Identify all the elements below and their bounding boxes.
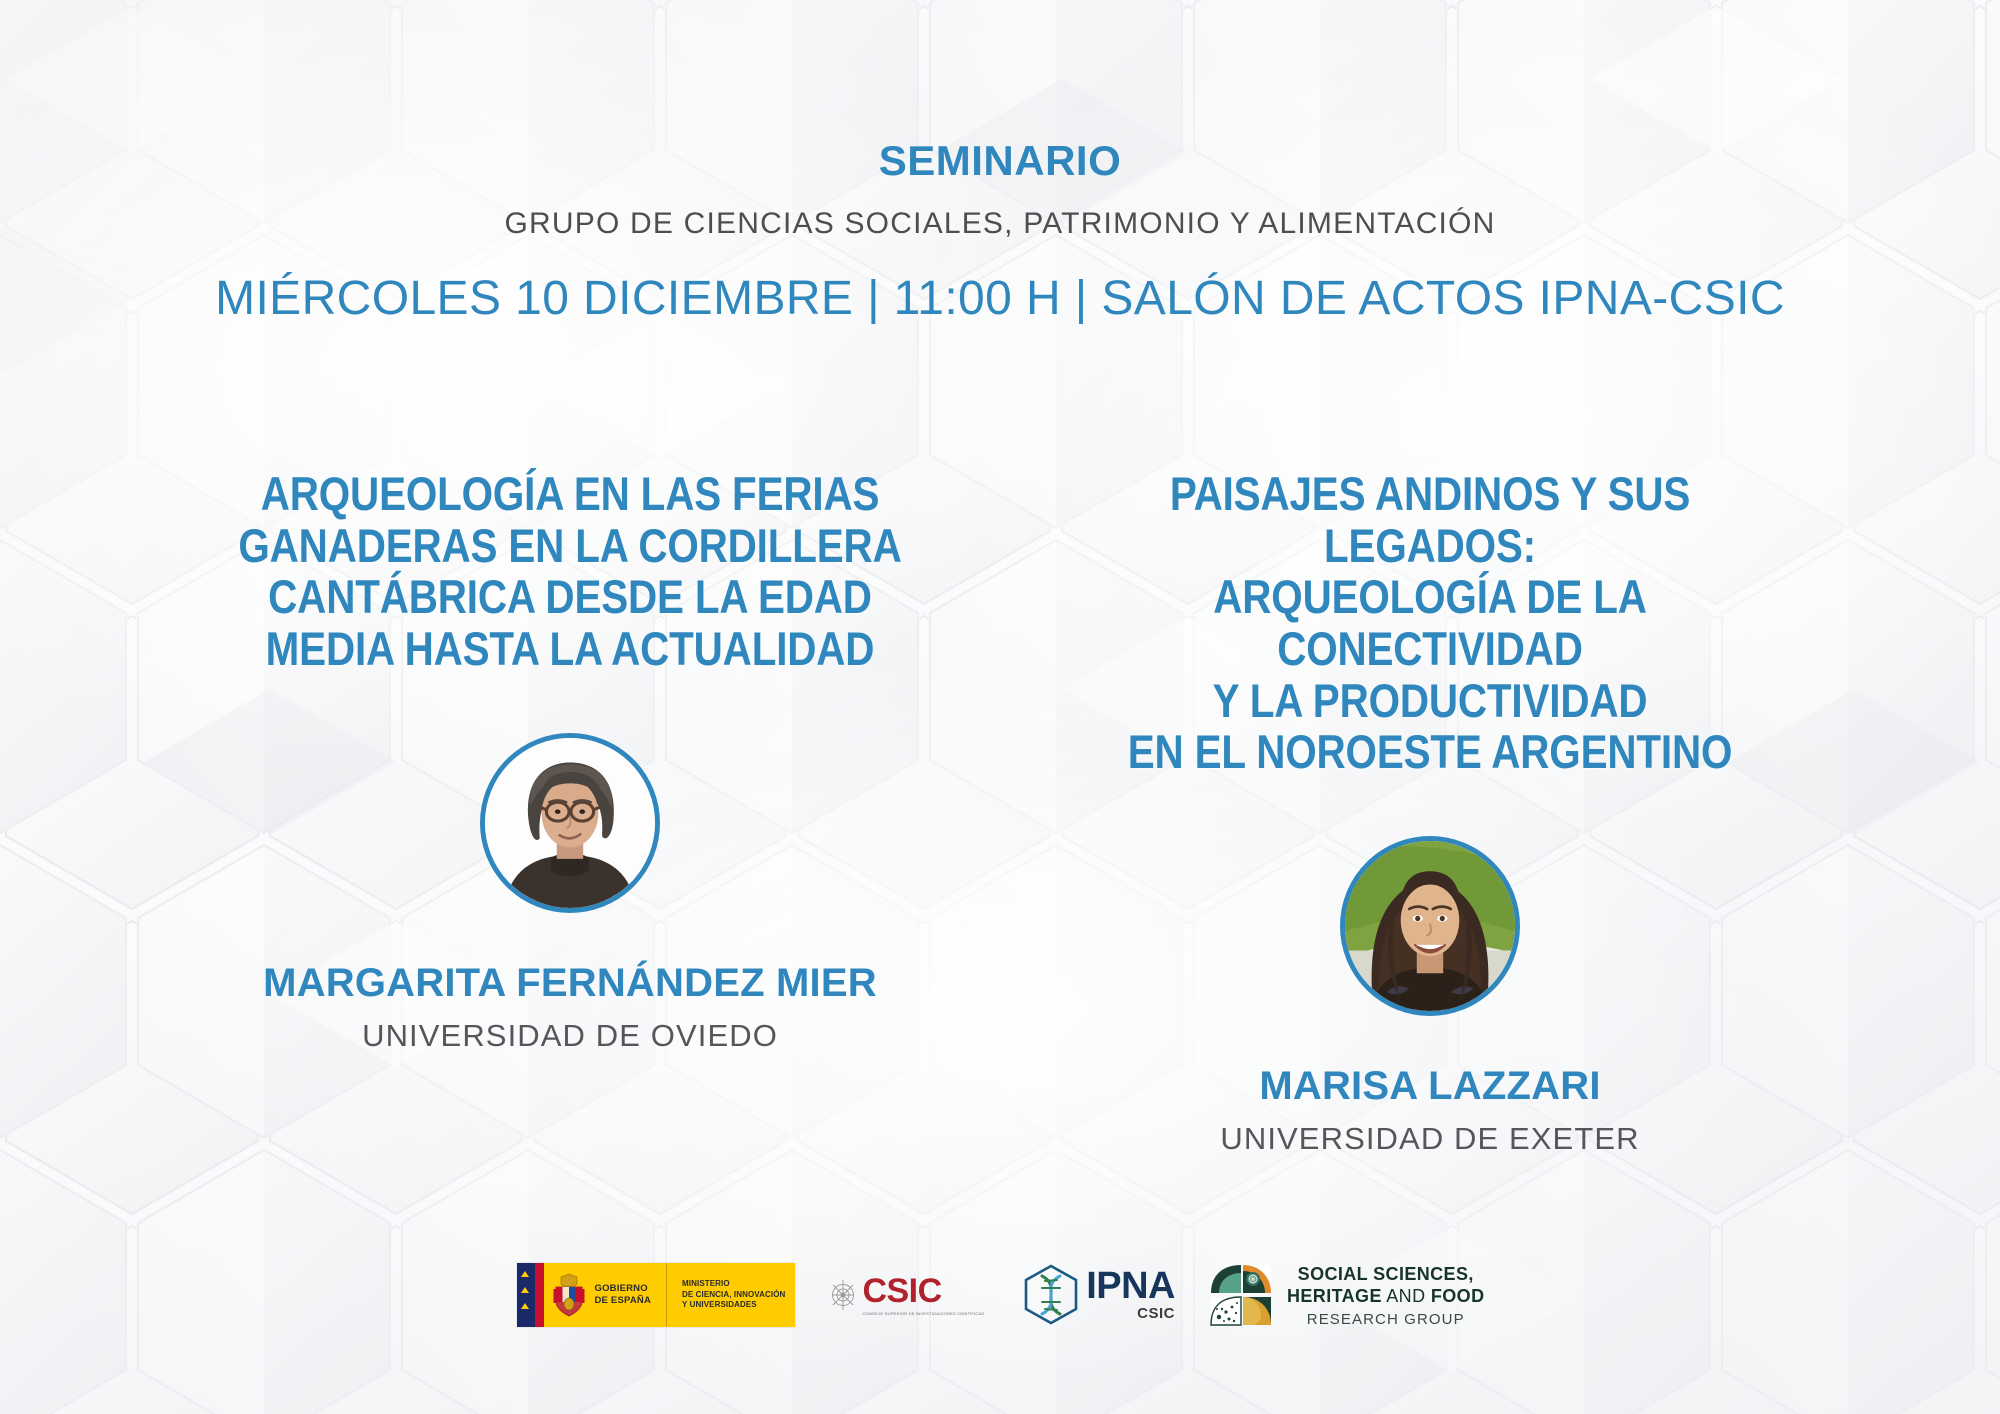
ipna-logo: IPNA CSIC — [1018, 1262, 1175, 1328]
seminar-poster: SEMINARIO GRUPO DE CIENCIAS SOCIALES, PA… — [0, 0, 2000, 1414]
csic-emblem-icon — [830, 1278, 856, 1312]
portrait-wrap — [1040, 836, 1820, 1016]
csic-wordmark: CSIC — [862, 1274, 984, 1308]
csic-logo: CSIC CONSEJO SUPERIOR DE INVESTIGACIONES… — [830, 1274, 984, 1316]
ipna-hexagon-dna-icon — [1018, 1262, 1084, 1328]
page-title: SEMINARIO — [0, 137, 2000, 185]
poster-header: SEMINARIO GRUPO DE CIENCIAS SOCIALES, PA… — [0, 0, 2000, 326]
avatar — [1340, 836, 1520, 1016]
divider — [666, 1263, 667, 1327]
ipna-csic-sublabel: CSIC — [1137, 1305, 1175, 1322]
research-group-line-2: HERITAGE AND FOOD — [1287, 1285, 1485, 1308]
ministerio-label: MINISTERIO DE CIENCIA, INNOVACIÓN Y UNIV… — [682, 1279, 785, 1310]
research-group-heritage-label: HERITAGE — [1287, 1286, 1382, 1306]
talk-column-right: PAISAJES ANDINOS Y SUS LEGADOS: ARQUEOLO… — [1000, 468, 1880, 1157]
portrait-wrap — [180, 733, 960, 913]
research-group-and-label: AND — [1382, 1286, 1431, 1306]
gobierno-de-espana-logo: GOBIERNO DE ESPAÑA MINISTERIO DE CIENCIA… — [516, 1262, 797, 1328]
research-group-line: GRUPO DE CIENCIAS SOCIALES, PATRIMONIO Y… — [0, 207, 2000, 241]
speaker-affiliation: UNIVERSIDAD DE OVIEDO — [180, 1018, 960, 1054]
talk-title: PAISAJES ANDINOS Y SUS LEGADOS: ARQUEOLO… — [1095, 468, 1766, 778]
research-group-line-3: RESEARCH GROUP — [1307, 1311, 1465, 1328]
speaker-affiliation: UNIVERSIDAD DE EXETER — [1040, 1121, 1820, 1157]
spain-coat-of-arms-icon — [552, 1273, 586, 1317]
event-datetime-venue: MIÉRCOLES 10 DICIEMBRE | 11:00 H | SALÓN… — [0, 271, 2000, 326]
research-group-line-1: SOCIAL SCIENCES, — [1298, 1263, 1474, 1286]
talk-column-left: ARQUEOLOGÍA EN LAS FERIAS GANADERAS EN L… — [120, 468, 1000, 1054]
research-group-logo: SOCIAL SCIENCES, HERITAGE AND FOOD RESEA… — [1209, 1263, 1485, 1328]
ipna-wordmark: IPNA — [1086, 1268, 1175, 1304]
avatar — [480, 733, 660, 913]
talks-container: ARQUEOLOGÍA EN LAS FERIAS GANADERAS EN L… — [0, 468, 2000, 1157]
research-group-emblem-icon — [1209, 1263, 1273, 1327]
speaker-name: MARISA LAZZARI — [1040, 1064, 1820, 1109]
research-group-food-label: FOOD — [1431, 1286, 1485, 1306]
eu-flag-bar-icon — [517, 1263, 535, 1327]
spain-flag-red-bar-icon — [535, 1263, 544, 1327]
talk-title: ARQUEOLOGÍA EN LAS FERIAS GANADERAS EN L… — [235, 468, 906, 675]
csic-tagline: CONSEJO SUPERIOR DE INVESTIGACIONES CIEN… — [862, 1311, 984, 1316]
speaker-name: MARGARITA FERNÁNDEZ MIER — [180, 961, 960, 1006]
gobierno-label: GOBIERNO DE ESPAÑA — [595, 1283, 652, 1307]
logo-strip: GOBIERNO DE ESPAÑA MINISTERIO DE CIENCIA… — [0, 1262, 2000, 1328]
